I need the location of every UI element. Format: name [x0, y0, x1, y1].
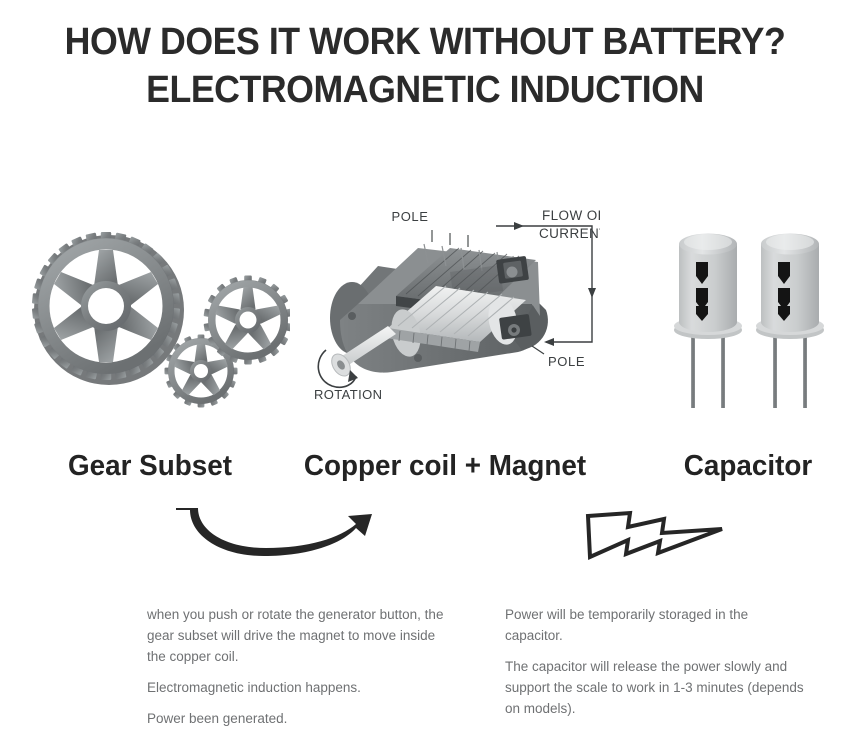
page-title: HOW DOES IT WORK WITHOUT BATTERY? ELECTR…: [0, 18, 850, 114]
page-title-line-2: ELECTROMAGNETIC INDUCTION: [26, 66, 825, 114]
caption-copper-coil-magnet: Copper coil + Magnet: [296, 448, 594, 484]
label-flow-line1: FLOW OF: [542, 208, 600, 223]
label-flow-line2: CURRENT: [539, 226, 600, 241]
caption-gear-subset: Gear Subset: [6, 448, 294, 484]
generator-cutaway-illustration: POLE FLOW OF CURRENT POLE ROTATION: [300, 200, 600, 440]
caption-capacitor: Capacitor: [652, 448, 844, 484]
body-left-paragraph-1: when you push or rotate the generator bu…: [147, 604, 447, 667]
curved-arrow-icon: [160, 500, 390, 572]
body-right-paragraph-2: The capacitor will release the power slo…: [505, 656, 805, 719]
gear-subset-illustration: [20, 200, 290, 440]
body-left-paragraph-2: Electromagnetic induction happens.: [147, 677, 447, 698]
body-text-left: when you push or rotate the generator bu…: [147, 604, 447, 729]
capacitor-right: [756, 234, 824, 409]
illustration-row: POLE FLOW OF CURRENT POLE ROTATION: [0, 200, 850, 440]
body-right-paragraph-1: Power will be temporarily storaged in th…: [505, 604, 805, 646]
infographic-page: HOW DOES IT WORK WITHOUT BATTERY? ELECTR…: [0, 0, 850, 737]
gear-large: [32, 232, 184, 385]
body-left-paragraph-3: Power been generated.: [147, 708, 447, 729]
lightning-bolt-icon: [572, 496, 732, 570]
label-pole-bottom: POLE: [548, 354, 585, 369]
section-captions: Gear Subset Copper coil + Magnet Capacit…: [0, 448, 850, 492]
label-rotation: ROTATION: [314, 387, 382, 402]
label-pole-top: POLE: [391, 209, 428, 224]
page-title-line-1: HOW DOES IT WORK WITHOUT BATTERY?: [26, 18, 825, 66]
body-text-right: Power will be temporarily storaged in th…: [505, 604, 805, 719]
capacitor-left: [674, 234, 742, 409]
capacitor-pair-illustration: [650, 200, 850, 440]
